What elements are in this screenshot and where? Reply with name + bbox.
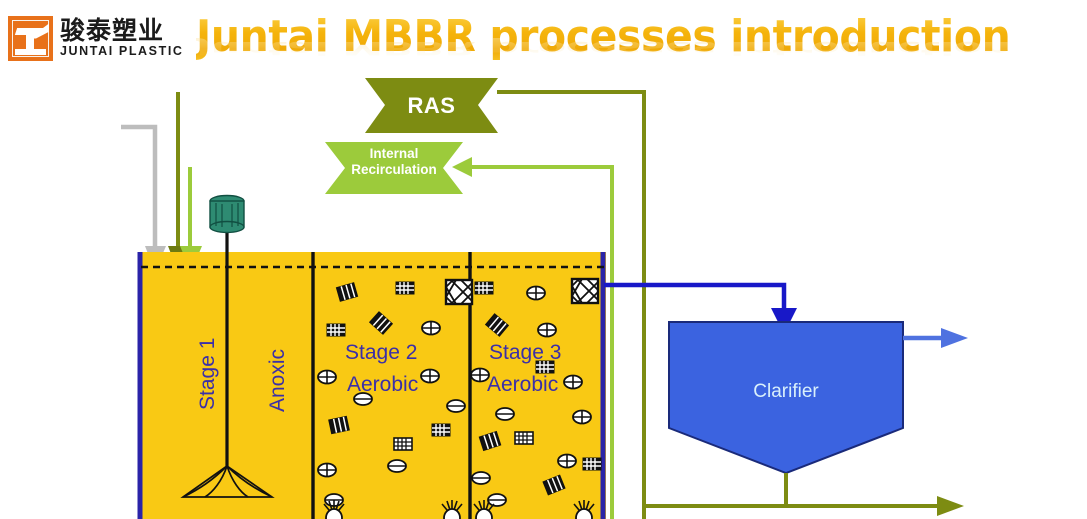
slide-canvas: 骏泰塑业 JUNTAI PLASTIC Juntai MBBR processe… (0, 0, 1087, 519)
mbbr-process-diagram: RAS Internal Recirculation Stage 1 Anoxi… (0, 0, 1087, 519)
influent-line (121, 127, 155, 246)
clarifier-tank (669, 322, 903, 473)
effluent-arrowhead (941, 328, 968, 348)
internal-recirculation-banner (325, 142, 463, 194)
ras-banner (365, 78, 498, 133)
sludge-line (644, 473, 940, 506)
tank-to-clarifier-line (604, 285, 784, 312)
ir-line-arrowhead (452, 157, 472, 177)
waste-sludge-arrowhead (937, 496, 964, 516)
